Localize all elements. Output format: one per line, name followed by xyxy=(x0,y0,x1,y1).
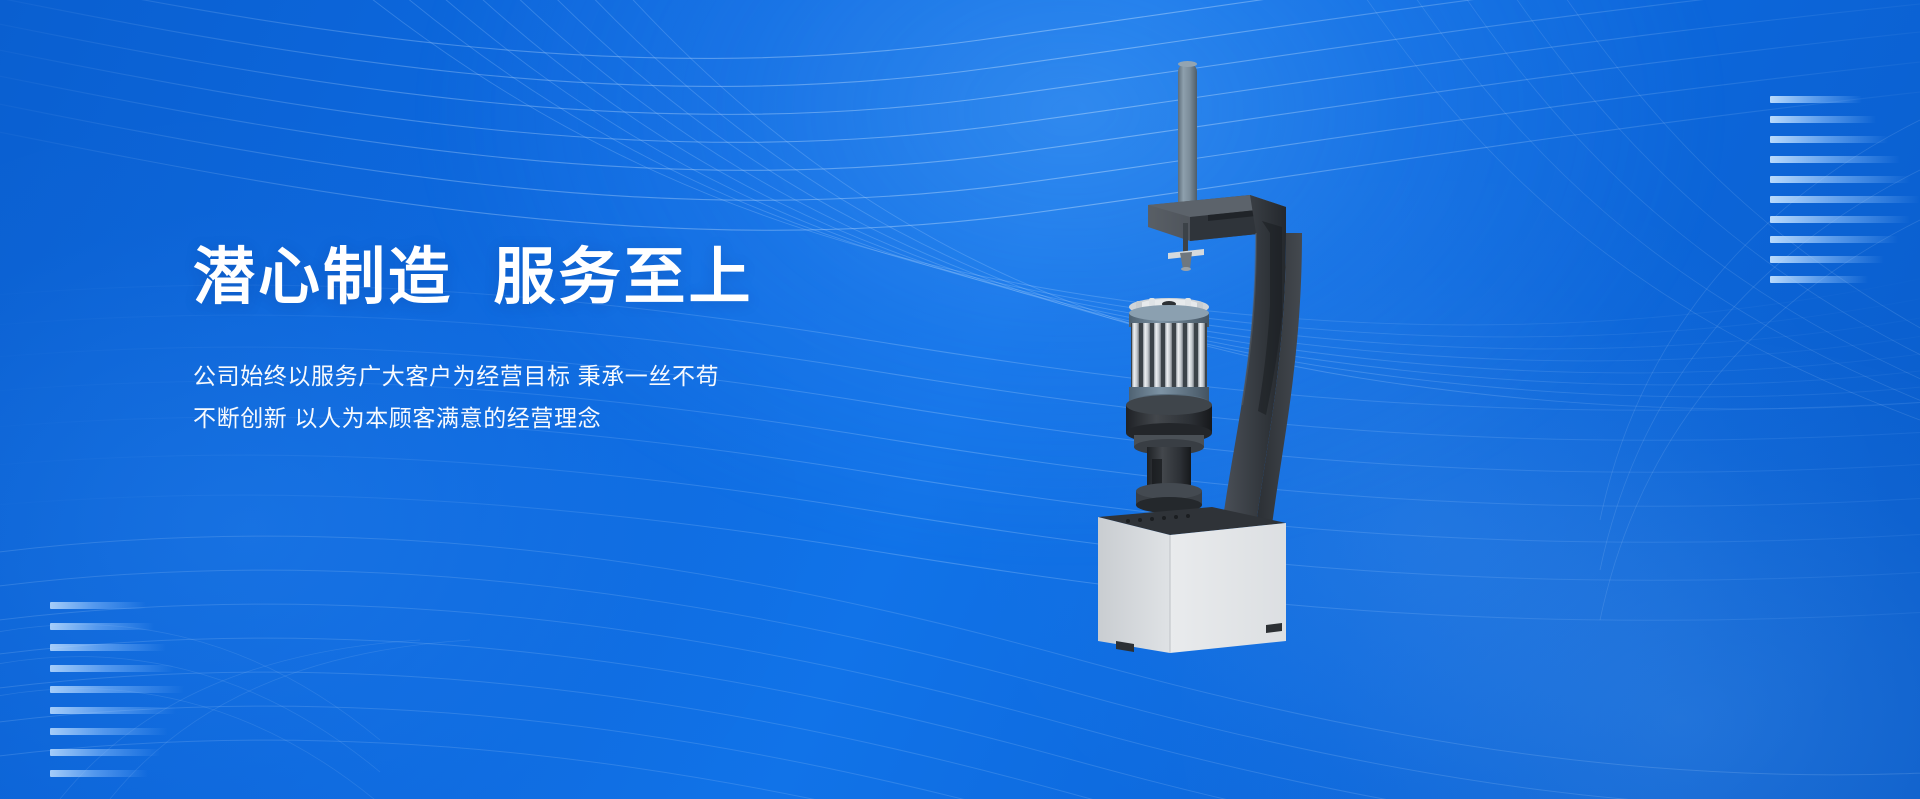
page-title: 潜心制造 服务至上 xyxy=(193,243,953,312)
vertical-shaft-part xyxy=(1178,61,1197,211)
tick-bar xyxy=(1770,216,1910,223)
multi-rod-cylinder-part xyxy=(1129,298,1209,412)
tick-bar xyxy=(50,623,154,630)
tick-bar xyxy=(50,749,160,756)
tick-bar xyxy=(50,602,146,609)
tick-bar xyxy=(1770,236,1898,243)
tick-bar xyxy=(50,686,184,693)
tick-bar xyxy=(1770,156,1900,163)
tick-bar xyxy=(1770,256,1884,263)
tick-bar xyxy=(50,770,148,777)
hero-subtitle: 公司始终以服务广大客户为经营目标 秉承一丝不苟 不断创新 以人为本顾客满意的经营… xyxy=(193,356,953,440)
background-glow-left xyxy=(0,120,800,799)
hero-banner: 潜心制造 服务至上 公司始终以服务广大客户为经营目标 秉承一丝不苟 不断创新 以… xyxy=(0,0,1920,799)
hero-subtitle-line-2: 不断创新 以人为本顾客满意的经营理念 xyxy=(193,398,953,440)
c-frame-column-part xyxy=(1222,195,1302,525)
hero-copy-block: 潜心制造 服务至上 公司始终以服务广大客户为经营目标 秉承一丝不苟 不断创新 以… xyxy=(193,243,953,440)
product-machine-illustration xyxy=(1090,55,1390,655)
tick-bar xyxy=(50,728,168,735)
rotary-base-part xyxy=(1126,395,1212,513)
tick-bar xyxy=(50,644,166,651)
tick-bar xyxy=(1770,176,1910,183)
tick-bar xyxy=(1770,136,1888,143)
tick-bar xyxy=(1770,116,1876,123)
tick-bar xyxy=(50,707,176,714)
tick-bar xyxy=(1770,196,1920,203)
tick-bar xyxy=(1770,96,1862,103)
decor-tick-bars-left xyxy=(50,602,184,791)
hero-subtitle-line-1: 公司始终以服务广大客户为经营目标 秉承一丝不苟 xyxy=(193,356,953,398)
cabinet-pedestal-part xyxy=(1098,507,1286,653)
decor-tick-bars-right xyxy=(1770,96,1920,296)
tick-bar xyxy=(50,665,174,672)
tick-bar xyxy=(1770,276,1868,283)
